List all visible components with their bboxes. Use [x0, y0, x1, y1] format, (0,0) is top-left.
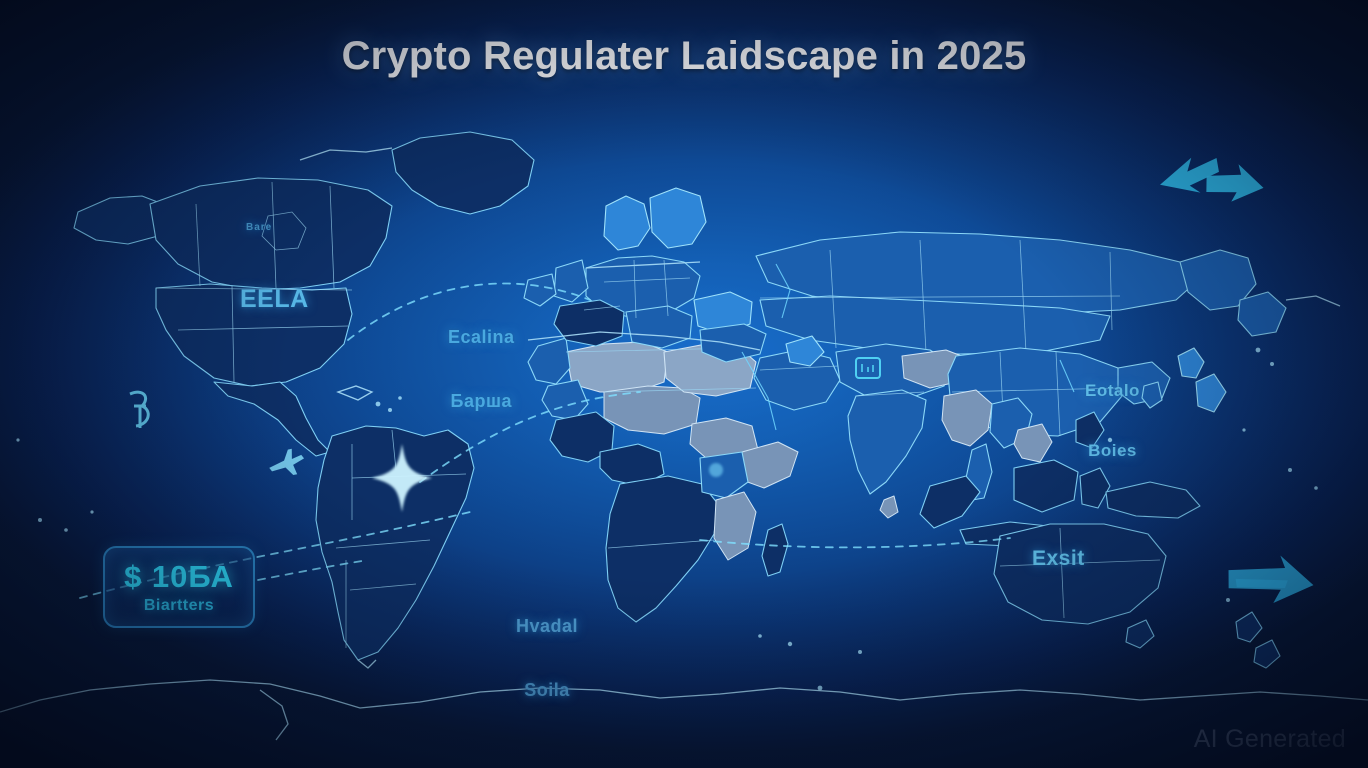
ai-generated-watermark: AI Generated [1194, 725, 1346, 754]
page-title: Crypto Regulater Laidscape in 2025 [0, 34, 1368, 79]
slide-canvas: Crypto Regulater Laidscape in 2025 EELA … [0, 0, 1368, 768]
stat-badge: $ 10БА Biartters [103, 546, 255, 628]
stat-badge-value: $ 10БА [124, 561, 234, 592]
world-map [0, 0, 1368, 768]
stat-badge-label: Biartters [144, 598, 214, 614]
